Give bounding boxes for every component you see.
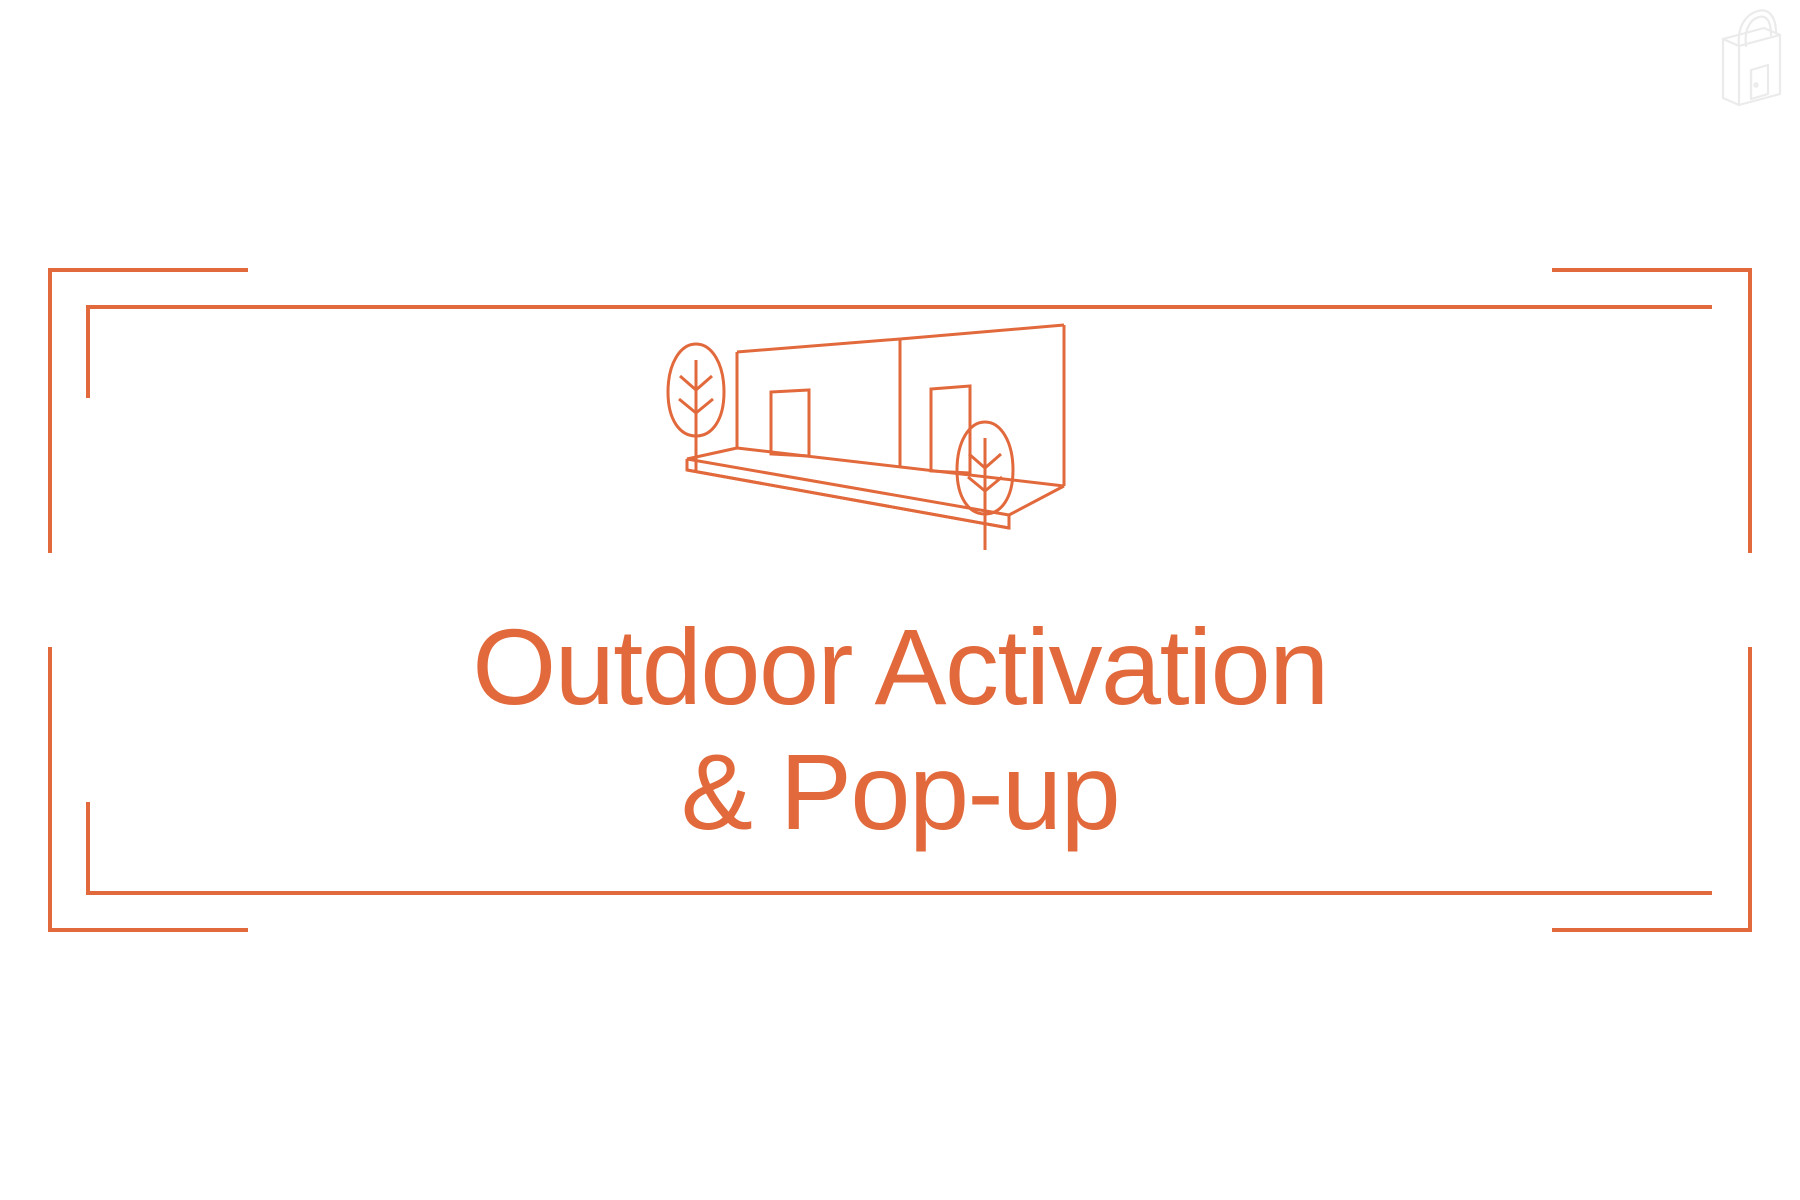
corner-bracket-frame <box>0 0 1800 1200</box>
tree-left-branch-3 <box>679 399 696 413</box>
platform-bottom-edge <box>687 470 1009 528</box>
shopping-bag-svg <box>1706 6 1792 110</box>
bracket-top-right-outer <box>1552 270 1750 553</box>
tree-left-branch-4 <box>696 399 713 413</box>
slide-canvas: Outdoor Activation & Pop-up <box>0 0 1800 1200</box>
tree-right <box>957 422 1013 550</box>
storefront-svg <box>660 300 1140 560</box>
page-title-line-1: Outdoor Activation <box>0 604 1800 729</box>
tree-left-branch-2 <box>696 376 712 390</box>
doorway-right <box>931 386 970 473</box>
frame-svg <box>0 0 1800 1200</box>
doorway-left <box>771 390 809 456</box>
facade-wall-top-right <box>900 325 1064 339</box>
bracket-top-left-outer <box>50 270 248 553</box>
tree-right-branch-3 <box>968 477 985 491</box>
facade-wall-top-left <box>737 339 900 352</box>
page-title: Outdoor Activation & Pop-up <box>0 604 1800 855</box>
tree-left-branch-1 <box>680 376 696 390</box>
shopping-bag-icon <box>1706 6 1792 110</box>
tree-right-branch-2 <box>985 454 1001 468</box>
page-title-line-2: & Pop-up <box>0 729 1800 854</box>
storefront-popup-illustration <box>660 300 1140 560</box>
